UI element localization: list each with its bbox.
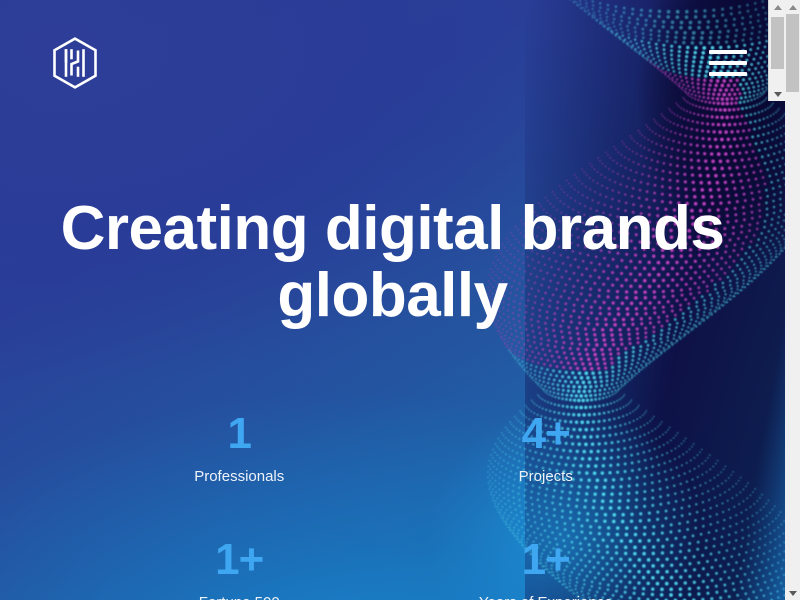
- stat-item-professionals: 1 Professionals: [86, 412, 393, 486]
- stat-value: 1: [86, 412, 393, 456]
- inner-scrollbar-up-button[interactable]: [769, 0, 785, 14]
- stat-label: Projects: [393, 468, 700, 486]
- page-scrollbar[interactable]: [785, 0, 800, 600]
- page-scrollbar-down-button[interactable]: [785, 586, 800, 600]
- stat-item-projects: 4+ Projects: [393, 412, 700, 486]
- page-scrollbar-up-button[interactable]: [785, 0, 800, 14]
- page-scrollbar-thumb[interactable]: [786, 14, 799, 92]
- stat-value: 4+: [393, 412, 700, 456]
- hexagon-monogram-logo-icon: [52, 37, 98, 89]
- site-header: [0, 0, 785, 125]
- hamburger-bar-middle: [709, 61, 747, 65]
- chevron-up-icon: [774, 5, 782, 10]
- logo-link[interactable]: [52, 37, 98, 89]
- page-content-area: Creating digital brands globally 1 Profe…: [0, 0, 785, 600]
- stat-label: Fortune 500: [86, 594, 393, 600]
- stat-label: Years of Experience: [393, 594, 700, 600]
- inner-scrollbar-down-button[interactable]: [769, 87, 785, 101]
- hamburger-bar-bottom: [709, 72, 747, 76]
- stat-value: 1+: [86, 538, 393, 582]
- browser-viewport: Creating digital brands globally 1 Profe…: [0, 0, 800, 600]
- stat-item-fortune-500: 1+ Fortune 500: [86, 538, 393, 600]
- inner-scrollbar-thumb[interactable]: [771, 17, 784, 69]
- stat-item-years-of-experience: 1+ Years of Experience: [393, 538, 700, 600]
- chevron-up-icon: [789, 5, 797, 10]
- hamburger-bar-top: [709, 50, 747, 54]
- chevron-down-icon: [774, 92, 782, 97]
- hero-section: Creating digital brands globally 1 Profe…: [0, 0, 785, 600]
- hero-headline: Creating digital brands globally: [0, 196, 785, 330]
- inner-scrollbar[interactable]: [768, 0, 785, 101]
- stat-value: 1+: [393, 538, 700, 582]
- stat-label: Professionals: [86, 468, 393, 486]
- hamburger-menu-button[interactable]: [709, 50, 747, 76]
- chevron-down-icon: [789, 591, 797, 596]
- stats-grid: 1 Professionals 4+ Projects 1+ Fortune 5…: [0, 412, 785, 600]
